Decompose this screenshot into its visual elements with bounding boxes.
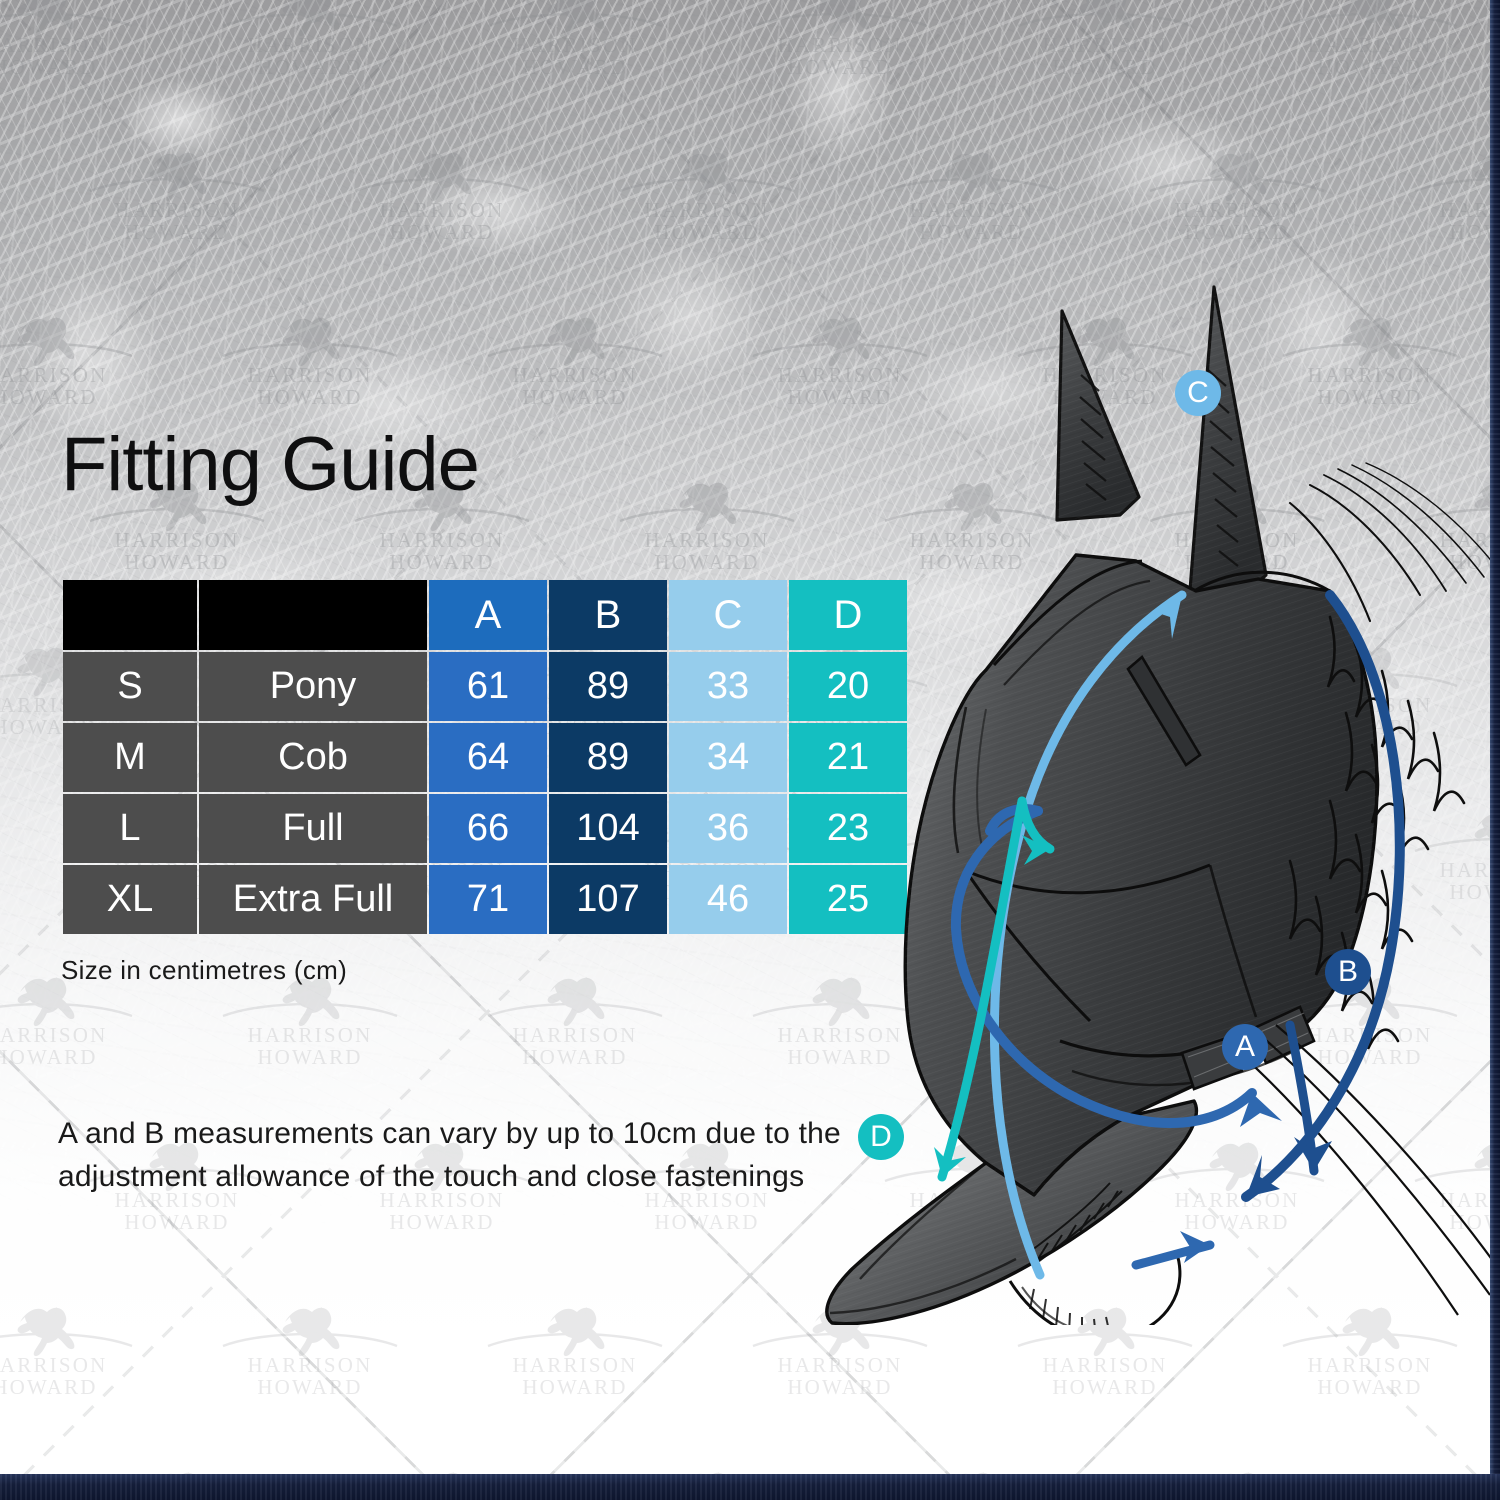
svg-text:HARRISON: HARRISON [248,1353,373,1377]
watermark: HARRISONHOWARD [1000,1280,1210,1398]
svg-text:HOWARD: HOWARD [919,1210,1024,1233]
svg-text:HOWARD: HOWARD [257,385,362,408]
svg-text:HARRISON: HARRISON [513,1023,638,1047]
svg-text:HARRISON: HARRISON [380,198,505,222]
svg-text:HARRISON: HARRISON [645,528,770,552]
svg-text:HARRISON: HARRISON [0,1353,107,1377]
svg-text:HOWARD: HOWARD [257,55,362,78]
watermark: HARRISONHOWARD [1397,125,1500,243]
value-cell-d: 20 [789,652,907,721]
watermark: HARRISONHOWARD [867,455,1077,573]
watermark: HARRISONHOWARD [1397,455,1500,573]
table-row: MCob64893421 [63,723,907,792]
svg-text:HOWARD: HOWARD [0,1045,98,1068]
name-cell: Pony [199,652,427,721]
value-cell-c: 33 [669,652,787,721]
watermark: HARRISONHOWARD [1000,0,1210,78]
svg-text:HOWARD: HOWARD [919,220,1024,243]
svg-text:HARRISON: HARRISON [248,33,373,57]
svg-text:HOWARD: HOWARD [654,550,759,573]
svg-text:HOWARD: HOWARD [1317,385,1422,408]
watermark: HARRISONHOWARD [1265,620,1475,738]
svg-text:HOWARD: HOWARD [1317,55,1422,78]
watermark: HARRISONHOWARD [1397,1115,1500,1233]
value-cell-a: 71 [429,865,547,934]
svg-text:HARRISON: HARRISON [1043,1353,1168,1377]
svg-text:HOWARD: HOWARD [654,220,759,243]
watermark: HARRISONHOWARD [205,0,415,78]
table-row: SPony61893320 [63,652,907,721]
watermark: HARRISONHOWARD [0,1280,150,1398]
value-cell-b: 107 [549,865,667,934]
value-cell-a: 64 [429,723,547,792]
watermark: HARRISONHOWARD [205,290,415,408]
watermark: HARRISONHOWARD [602,455,812,573]
watermark: HARRISONHOWARD [1000,620,1210,738]
header-cell-a: A [429,580,547,650]
svg-text:HARRISON: HARRISON [778,363,903,387]
svg-text:HOWARD: HOWARD [389,1210,494,1233]
watermark: HARRISONHOWARD [470,0,680,78]
svg-text:HARRISON: HARRISON [910,198,1035,222]
units-note: Size in centimetres (cm) [61,955,347,986]
watermark: HARRISONHOWARD [735,1280,945,1398]
variance-note: A and B measurements can vary by up to 1… [58,1113,858,1198]
svg-text:HOWARD: HOWARD [1184,550,1289,573]
svg-text:HOWARD: HOWARD [1317,1045,1422,1068]
svg-text:HOWARD: HOWARD [787,55,892,78]
svg-text:HARRISON: HARRISON [248,363,373,387]
watermark: HARRISONHOWARD [1265,0,1475,78]
watermark: HARRISONHOWARD [470,1280,680,1398]
svg-text:HOWARD: HOWARD [1317,1375,1422,1398]
svg-text:HOWARD: HOWARD [0,1375,98,1398]
svg-text:HOWARD: HOWARD [522,1375,627,1398]
watermark: HARRISONHOWARD [867,125,1077,243]
svg-text:HOWARD: HOWARD [1052,715,1157,738]
svg-text:HARRISON: HARRISON [1175,198,1300,222]
svg-text:HARRISON: HARRISON [778,1353,903,1377]
watermark: HARRISONHOWARD [735,290,945,408]
watermark: HARRISONHOWARD [735,950,945,1068]
svg-text:HOWARD: HOWARD [919,880,1024,903]
value-cell-d: 23 [789,794,907,863]
name-cell: Full [199,794,427,863]
watermark: HARRISONHOWARD [337,125,547,243]
watermark: HARRISONHOWARD [0,290,150,408]
value-cell-d: 25 [789,865,907,934]
size-cell: S [63,652,197,721]
svg-text:HOWARD: HOWARD [257,1045,362,1068]
svg-text:HOWARD: HOWARD [787,385,892,408]
svg-text:HOWARD: HOWARD [1052,55,1157,78]
marker-badge-d: D [858,1114,904,1160]
svg-text:HARRISON: HARRISON [1175,858,1300,882]
value-cell-c: 34 [669,723,787,792]
svg-text:HARRISON: HARRISON [0,33,107,57]
svg-text:HOWARD: HOWARD [787,1045,892,1068]
marker-badge-a: A [1222,1024,1268,1070]
marker-badge-b: B [1325,949,1371,995]
watermark: HARRISONHOWARD [1000,950,1210,1068]
svg-text:HARRISON: HARRISON [1175,528,1300,552]
table-row: LFull661043623 [63,794,907,863]
svg-text:HARRISON: HARRISON [1308,33,1433,57]
value-cell-c: 46 [669,865,787,934]
watermark: HARRISONHOWARD [1132,125,1342,243]
watermark: HARRISONHOWARD [205,1280,415,1398]
svg-text:HARRISON: HARRISON [380,528,505,552]
svg-text:HOWARD: HOWARD [124,1210,229,1233]
value-cell-b: 104 [549,794,667,863]
svg-text:HARRISON: HARRISON [1043,693,1168,717]
value-cell-b: 89 [549,723,667,792]
watermark: HARRISONHOWARD [1132,455,1342,573]
watermark: HARRISONHOWARD [72,125,282,243]
watermark: HARRISONHOWARD [0,0,150,78]
value-cell-d: 21 [789,723,907,792]
svg-text:HARRISON: HARRISON [1043,33,1168,57]
watermark: HARRISONHOWARD [1265,1280,1475,1398]
marker-badge-c: C [1175,370,1221,416]
svg-text:HARRISON: HARRISON [513,1353,638,1377]
value-cell-b: 89 [549,652,667,721]
svg-text:HOWARD: HOWARD [389,550,494,573]
svg-text:HARRISON: HARRISON [1043,363,1168,387]
svg-text:HOWARD: HOWARD [522,385,627,408]
svg-text:HOWARD: HOWARD [1184,220,1289,243]
svg-text:HOWARD: HOWARD [1317,715,1422,738]
value-cell-c: 36 [669,794,787,863]
svg-text:HARRISON: HARRISON [910,1188,1035,1212]
svg-text:HOWARD: HOWARD [389,220,494,243]
value-cell-a: 66 [429,794,547,863]
header-cell-size [63,580,197,650]
svg-text:HOWARD: HOWARD [0,55,98,78]
name-cell: Extra Full [199,865,427,934]
watermark: HARRISONHOWARD [1397,785,1500,903]
svg-text:HARRISON: HARRISON [0,1023,107,1047]
value-cell-a: 61 [429,652,547,721]
table-header-row: A B C D [63,580,907,650]
watermark: HARRISONHOWARD [1132,1115,1342,1233]
svg-text:HOWARD: HOWARD [919,550,1024,573]
frame-right-edge [1490,0,1500,1500]
frame-bottom-edge [0,1474,1500,1500]
svg-text:HARRISON: HARRISON [910,528,1035,552]
svg-text:HOWARD: HOWARD [124,220,229,243]
watermark: HARRISONHOWARD [470,950,680,1068]
table-row: XLExtra Full711074625 [63,865,907,934]
svg-text:HOWARD: HOWARD [1184,1210,1289,1233]
size-chart-table: A B C D SPony61893320MCob64893421LFull66… [61,578,909,936]
header-cell-c: C [669,580,787,650]
svg-text:HOWARD: HOWARD [0,385,98,408]
watermark: HARRISONHOWARD [602,125,812,243]
size-cell: M [63,723,197,792]
svg-text:HARRISON: HARRISON [1308,363,1433,387]
svg-text:HOWARD: HOWARD [257,1375,362,1398]
svg-text:HOWARD: HOWARD [1184,880,1289,903]
svg-text:HARRISON: HARRISON [1043,1023,1168,1047]
svg-text:HARRISON: HARRISON [778,33,903,57]
header-cell-name [199,580,427,650]
fitting-guide-canvas: HARRISONHOWARDHARRISONHOWARDHARRISONHOWA… [0,0,1500,1500]
size-cell: XL [63,865,197,934]
svg-text:HOWARD: HOWARD [1052,1045,1157,1068]
svg-text:HOWARD: HOWARD [522,55,627,78]
page-title: Fitting Guide [61,427,479,503]
watermark: HARRISONHOWARD [735,0,945,78]
svg-text:HARRISON: HARRISON [1308,1353,1433,1377]
svg-text:HARRISON: HARRISON [645,198,770,222]
svg-text:HOWARD: HOWARD [124,550,229,573]
header-cell-b: B [549,580,667,650]
svg-text:HARRISON: HARRISON [1308,1023,1433,1047]
watermark: HARRISONHOWARD [470,290,680,408]
watermark: HARRISONHOWARD [1265,290,1475,408]
svg-text:HOWARD: HOWARD [1052,1375,1157,1398]
svg-text:HOWARD: HOWARD [522,1045,627,1068]
svg-text:HOWARD: HOWARD [654,1210,759,1233]
svg-text:HOWARD: HOWARD [787,1375,892,1398]
svg-text:HARRISON: HARRISON [778,1023,903,1047]
svg-text:HARRISON: HARRISON [115,528,240,552]
watermark: HARRISONHOWARD [1132,785,1342,903]
svg-text:HARRISON: HARRISON [0,363,107,387]
svg-text:HOWARD: HOWARD [1052,385,1157,408]
svg-text:HARRISON: HARRISON [115,198,240,222]
svg-text:HARRISON: HARRISON [910,858,1035,882]
svg-text:HARRISON: HARRISON [1175,1188,1300,1212]
svg-text:HARRISON: HARRISON [1308,693,1433,717]
svg-text:HARRISON: HARRISON [248,1023,373,1047]
size-cell: L [63,794,197,863]
header-cell-d: D [789,580,907,650]
svg-text:HARRISON: HARRISON [513,363,638,387]
table-body: SPony61893320MCob64893421LFull661043623X… [63,652,907,934]
name-cell: Cob [199,723,427,792]
svg-text:HARRISON: HARRISON [513,33,638,57]
